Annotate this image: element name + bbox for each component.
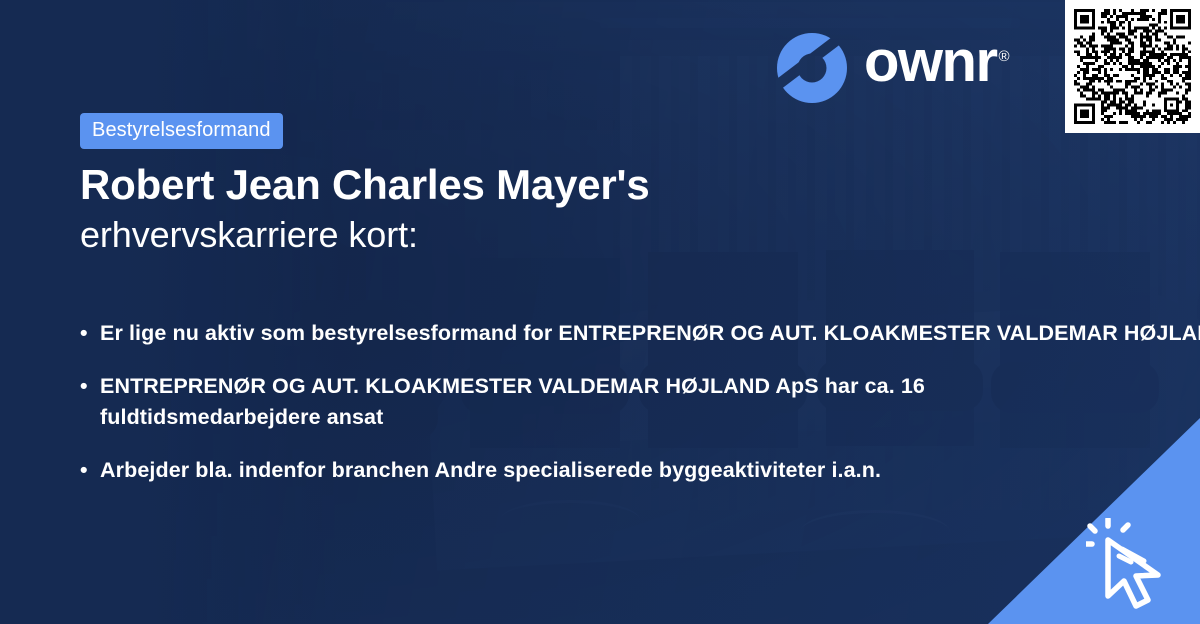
registered-mark-icon: ® <box>999 48 1009 65</box>
click-cursor-icon <box>1086 518 1190 622</box>
qr-code-icon <box>1074 9 1191 124</box>
role-badge: Bestyrelsesformand <box>80 113 283 149</box>
ownr-circle-logo-icon <box>776 32 848 104</box>
qr-code[interactable] <box>1065 0 1200 133</box>
headline-subtitle: erhvervskarriere kort: <box>80 212 1140 258</box>
bullet-dot-icon: • <box>80 455 100 486</box>
list-item: • Arbejder bla. indenfor branchen Andre … <box>80 455 1200 486</box>
ownr-logo: ownr® <box>776 31 1006 104</box>
headline-name: Robert Jean Charles Mayer's <box>80 158 1140 212</box>
list-item-text: Arbejder bla. indenfor branchen Andre sp… <box>100 455 1000 486</box>
ownr-career-card: Bestyrelsesformand Robert Jean Charles M… <box>0 0 1200 624</box>
bullet-dot-icon: • <box>80 318 100 349</box>
list-item: • ENTREPRENØR OG AUT. KLOAKMESTER VALDEM… <box>80 371 1200 433</box>
ownr-wordmark: ownr® <box>864 33 1006 106</box>
list-item-text: Er lige nu aktiv som bestyrelsesformand … <box>100 318 1200 349</box>
career-bullet-list: • Er lige nu aktiv som bestyrelsesforman… <box>80 318 1200 508</box>
corner-triangle-decoration <box>0 0 1200 624</box>
card-content: Bestyrelsesformand Robert Jean Charles M… <box>0 0 1200 624</box>
list-item: • Er lige nu aktiv som bestyrelsesforman… <box>80 318 1200 349</box>
page-title: Robert Jean Charles Mayer's erhvervskarr… <box>80 158 1140 258</box>
bullet-dot-icon: • <box>80 371 100 402</box>
list-item-text: ENTREPRENØR OG AUT. KLOAKMESTER VALDEMAR… <box>100 371 1000 433</box>
ownr-wordmark-text: ownr <box>864 29 997 94</box>
